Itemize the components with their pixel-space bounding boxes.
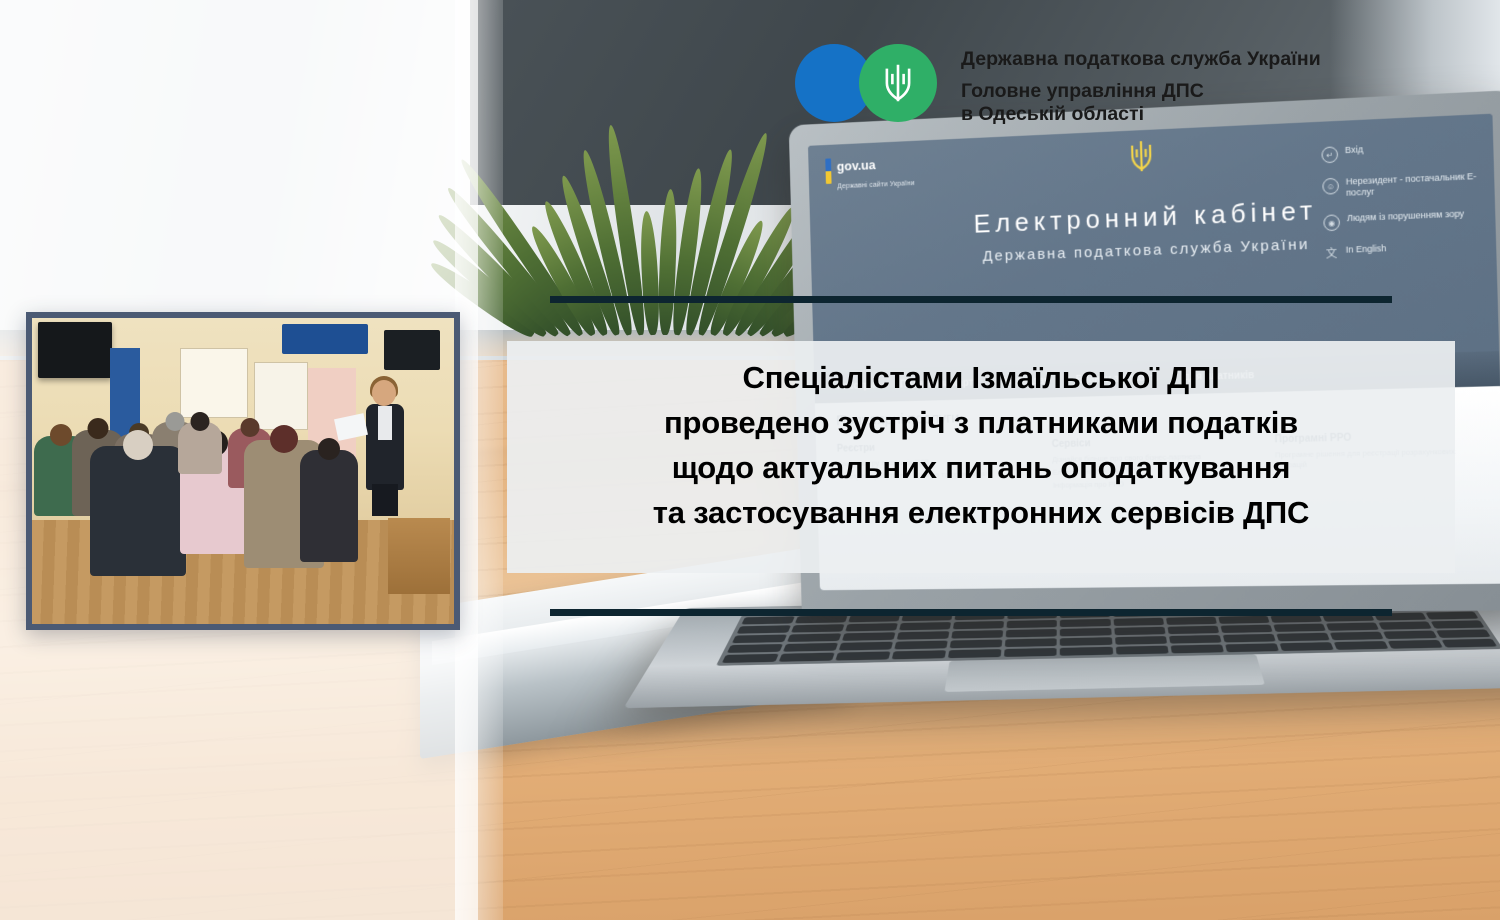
photo-frame bbox=[26, 312, 460, 630]
caption-panel: Спеціалістами Ізмаїльської ДПІ проведено… bbox=[507, 341, 1455, 573]
brand-header: Державна податкова служба України Головн… bbox=[795, 44, 1321, 126]
audience-figure bbox=[90, 446, 186, 576]
brand-title-line2: Головне управління ДПС bbox=[961, 80, 1321, 103]
caption-line-1: Спеціалістами Ізмаїльської ДПІ bbox=[743, 360, 1220, 395]
caption-line-4: та застосування електронних сервісів ДПС bbox=[653, 495, 1309, 530]
wall-monitor-secondary-icon bbox=[384, 330, 440, 370]
login-icon: ↵ bbox=[1321, 146, 1338, 163]
govua-subtitle: Державні сайти України bbox=[837, 180, 915, 190]
site-utility-links: ↵Вхід☺Нерезидент - постачальник Е-послуг… bbox=[1321, 139, 1480, 275]
caption-rule-bottom bbox=[550, 609, 1392, 616]
translate-icon: 文 bbox=[1324, 246, 1339, 261]
brand-title-line3: в Одеській області bbox=[961, 103, 1321, 126]
trident-icon bbox=[881, 61, 915, 105]
trident-icon bbox=[1128, 140, 1155, 178]
site-link-login[interactable]: ↵Вхід bbox=[1321, 139, 1477, 163]
audience-figure bbox=[300, 450, 358, 562]
brand-title-line1: Державна податкова служба України bbox=[961, 48, 1321, 71]
site-link-user[interactable]: ☺Нерезидент - постачальник Е-послуг bbox=[1322, 171, 1478, 200]
site-link-label: In English bbox=[1346, 243, 1387, 256]
logo-circle-green bbox=[859, 44, 937, 122]
presenter-figure bbox=[364, 380, 408, 516]
audience-figure bbox=[178, 422, 222, 474]
caption-rule-top bbox=[550, 296, 1392, 303]
flag-bar-icon bbox=[825, 158, 831, 184]
caption-line-2: проведено зустріч з платниками податків bbox=[664, 405, 1298, 440]
banner-canvas: gov.ua Державні сайти України Електронни… bbox=[0, 0, 1500, 920]
caption-line-3: щодо актуальних питань оподаткування bbox=[672, 450, 1291, 485]
left-overlay-fade bbox=[455, 0, 503, 920]
site-link-eye[interactable]: ◉Людям із порушенням зору bbox=[1323, 208, 1479, 231]
site-link-label: Людям із порушенням зору bbox=[1347, 208, 1465, 224]
meeting-photo bbox=[32, 318, 454, 624]
brand-text: Державна податкова служба України Головн… bbox=[961, 44, 1321, 126]
site-link-label: Нерезидент - постачальник Е-послуг bbox=[1346, 171, 1478, 199]
govua-brand: gov.ua bbox=[837, 157, 876, 173]
laptop-trackpad bbox=[944, 654, 1265, 692]
eye-icon: ◉ bbox=[1323, 214, 1340, 231]
site-link-translate[interactable]: 文In English bbox=[1324, 240, 1480, 261]
site-link-label: Вхід bbox=[1345, 144, 1363, 156]
wall-monitor-icon bbox=[38, 322, 112, 378]
user-icon: ☺ bbox=[1322, 178, 1339, 195]
govua-logo[interactable]: gov.ua Державні сайти України bbox=[825, 155, 915, 194]
